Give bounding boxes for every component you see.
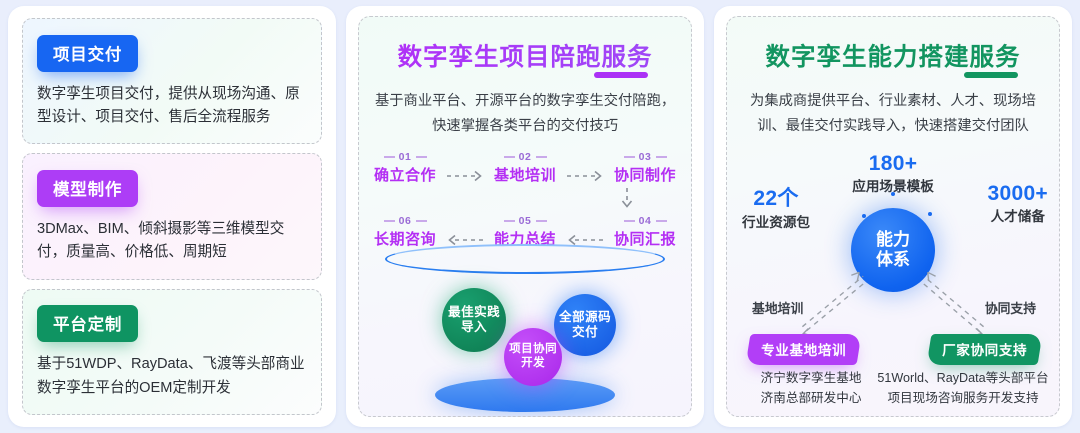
service-card-platform[interactable]: 平台定制 基于51WDP、RayData、飞渡等头部商业数字孪生平台的OEM定制…	[22, 289, 322, 415]
coaching-dashed-frame	[358, 16, 692, 417]
project-coaching-panel: 数字孪生项目陪跑服务 基于商业平台、开源平台的数字孪生交付陪跑，快速掌握各类平台…	[346, 6, 704, 427]
slide-root: 项目交付 数字孪生项目交付，提供从现场沟通、原型设计、项目交付、售后全流程服务 …	[0, 0, 1080, 433]
service-category-panel: 项目交付 数字孪生项目交付，提供从现场沟通、原型设计、项目交付、售后全流程服务 …	[8, 6, 336, 427]
service-desc-platform: 基于51WDP、RayData、飞渡等头部商业数字孪生平台的OEM定制开发	[37, 353, 307, 400]
service-badge-delivery: 项目交付	[37, 35, 138, 72]
service-badge-modeling: 模型制作	[37, 170, 138, 207]
service-desc-modeling: 3DMax、BIM、倾斜摄影等三维模型交付，质量高、价格低、周期短	[37, 218, 307, 265]
capability-dashed-frame	[726, 16, 1060, 417]
capability-building-panel: 数字孪生能力搭建服务 为集成商提供平台、行业素材、人才、现场培训、最佳交付实践导…	[714, 6, 1072, 427]
service-card-delivery[interactable]: 项目交付 数字孪生项目交付，提供从现场沟通、原型设计、项目交付、售后全流程服务	[22, 18, 322, 144]
service-card-modeling[interactable]: 模型制作 3DMax、BIM、倾斜摄影等三维模型交付，质量高、价格低、周期短	[22, 153, 322, 279]
service-badge-platform: 平台定制	[37, 305, 138, 342]
service-desc-delivery: 数字孪生项目交付，提供从现场沟通、原型设计、项目交付、售后全流程服务	[37, 83, 307, 130]
